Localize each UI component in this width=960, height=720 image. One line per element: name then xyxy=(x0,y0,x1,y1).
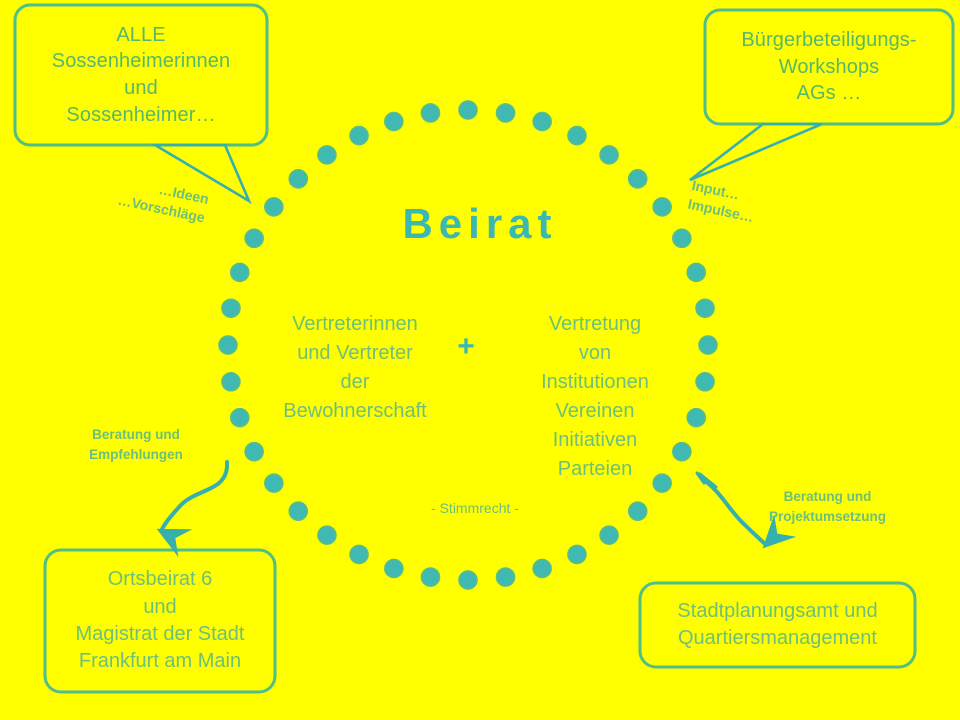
box-line: Stadtplanungsamt und xyxy=(677,598,877,625)
ring-dot xyxy=(687,409,705,427)
ring-dot xyxy=(568,127,586,145)
ring-dot xyxy=(385,113,403,131)
ring-dot xyxy=(533,560,551,578)
ring-dot xyxy=(289,170,307,188)
ring-dot xyxy=(231,409,249,427)
ring-dot xyxy=(600,146,618,164)
ring-dot xyxy=(318,146,336,164)
callout-line: AGs … xyxy=(797,80,862,107)
callout-line: und xyxy=(124,75,158,102)
ring-dot xyxy=(231,263,249,281)
center-line: Vertreterinnen xyxy=(265,310,445,339)
box-line: und xyxy=(143,594,176,621)
center-line: Parteien xyxy=(505,455,685,484)
diagram-canvas: ALLE Sossenheimerinnen und Sossenheimer…… xyxy=(0,0,960,720)
box-line: Ortsbeirat 6 xyxy=(108,566,212,593)
ring-dot xyxy=(289,502,307,520)
ring-dot xyxy=(421,104,439,122)
ring-dot xyxy=(687,263,705,281)
ring-dot xyxy=(533,113,551,131)
box-line: Frankfurt am Main xyxy=(79,648,241,675)
center-line: Vertretung xyxy=(505,310,685,339)
ring-dot xyxy=(222,299,240,317)
ring-dot xyxy=(350,127,368,145)
ring-dot xyxy=(699,336,717,354)
center-line: Bewohnerschaft xyxy=(265,397,445,426)
flow-label-beratung-projektumsetzung: Beratung und Projektumsetzung xyxy=(745,487,910,526)
arrow-head-up-left xyxy=(697,473,716,487)
ring-dot xyxy=(653,198,671,216)
ring-dot xyxy=(222,373,240,391)
center-line: der xyxy=(265,368,445,397)
ring-dot xyxy=(245,229,263,247)
flow-label-beratung-empfehlungen: Beratung und Empfehlungen xyxy=(66,425,206,464)
callout-text-workshops: Bürgerbeteiligungs- Workshops AGs … xyxy=(705,10,953,124)
ring-dot xyxy=(385,560,403,578)
center-line: Vereinen xyxy=(505,397,685,426)
tail-label-input-impulse: Input… Impulse… xyxy=(686,176,759,227)
callout-text-citizens: ALLE Sossenheimerinnen und Sossenheimer… xyxy=(15,5,267,145)
ring-dot xyxy=(219,336,237,354)
callout-line: Workshops xyxy=(779,54,880,81)
center-line: und Vertreter xyxy=(265,339,445,368)
ring-dot xyxy=(629,170,647,188)
flow-label-line: Beratung und xyxy=(745,487,910,507)
ring-dot xyxy=(459,101,477,119)
flow-label-line: Projektumsetzung xyxy=(745,507,910,527)
center-line: Institutionen xyxy=(505,368,685,397)
ring-dot xyxy=(421,568,439,586)
plus-operator: + xyxy=(452,332,480,362)
flow-label-line: Empfehlungen xyxy=(66,445,206,465)
center-column-institutions: Vertretung von Institutionen Vereinen In… xyxy=(505,310,685,484)
ring-dot xyxy=(245,443,263,461)
flow-label-line: Beratung und xyxy=(66,425,206,445)
ring-dot xyxy=(497,568,515,586)
box-text-ortsbeirat: Ortsbeirat 6 und Magistrat der Stadt Fra… xyxy=(45,550,275,692)
ring-dot xyxy=(673,229,691,247)
page-title: Beirat xyxy=(330,200,630,248)
ring-dot xyxy=(459,571,477,589)
center-line: Initiativen xyxy=(505,426,685,455)
arrow-beratung-empfehlungen xyxy=(161,462,227,531)
ring-dot xyxy=(600,526,618,544)
callout-line: Bürgerbeteiligungs- xyxy=(741,27,916,54)
box-line: Magistrat der Stadt xyxy=(76,621,245,648)
box-text-stadtplanung: Stadtplanungsamt und Quartiersmanagement xyxy=(640,583,915,667)
ring-dot xyxy=(696,299,714,317)
note-stimmrecht: - Stimmrecht - xyxy=(375,500,575,516)
callout-line: ALLE xyxy=(116,22,165,49)
tail-label-ideen-vorschlaege: …Ideen …Vorschläge xyxy=(116,172,210,227)
callout-line: Sossenheimer… xyxy=(66,102,215,129)
ring-dot xyxy=(629,502,647,520)
ring-dot xyxy=(350,545,368,563)
center-column-residents: Vertreterinnen und Vertreter der Bewohne… xyxy=(265,310,445,426)
ring-dot xyxy=(318,526,336,544)
box-line: Quartiersmanagement xyxy=(678,625,877,652)
callout-line: Sossenheimerinnen xyxy=(52,48,230,75)
ring-dot xyxy=(696,373,714,391)
ring-dot xyxy=(568,545,586,563)
ring-dot xyxy=(265,198,283,216)
ring-dot xyxy=(497,104,515,122)
center-line: von xyxy=(505,339,685,368)
ring-dot xyxy=(265,474,283,492)
